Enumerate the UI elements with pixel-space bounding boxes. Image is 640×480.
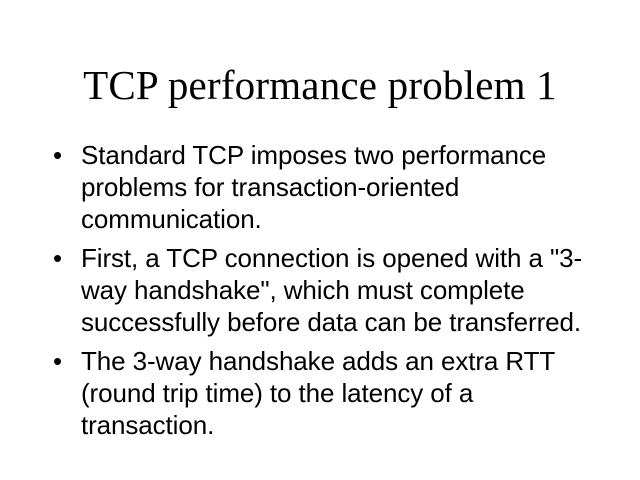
bullet-point-icon: • xyxy=(53,242,69,274)
bullet-item-text: Standard TCP imposes two performance pro… xyxy=(81,139,588,235)
slide-bullet-list: • Standard TCP imposes two performance p… xyxy=(48,139,588,441)
bullet-point-icon: • xyxy=(53,139,69,171)
slide-title: TCP performance problem 1 xyxy=(0,62,640,108)
bullet-item-text: The 3-way handshake adds an extra RTT (r… xyxy=(81,345,588,441)
bullet-item-text: First, a TCP connection is opened with a… xyxy=(81,242,588,338)
presentation-slide: TCP performance problem 1 • Standard TCP… xyxy=(0,0,640,480)
bullet-list-item: • First, a TCP connection is opened with… xyxy=(48,242,588,338)
bullet-list-item: • Standard TCP imposes two performance p… xyxy=(48,139,588,235)
bullet-list-item: • The 3-way handshake adds an extra RTT … xyxy=(48,345,588,441)
bullet-point-icon: • xyxy=(53,345,69,377)
